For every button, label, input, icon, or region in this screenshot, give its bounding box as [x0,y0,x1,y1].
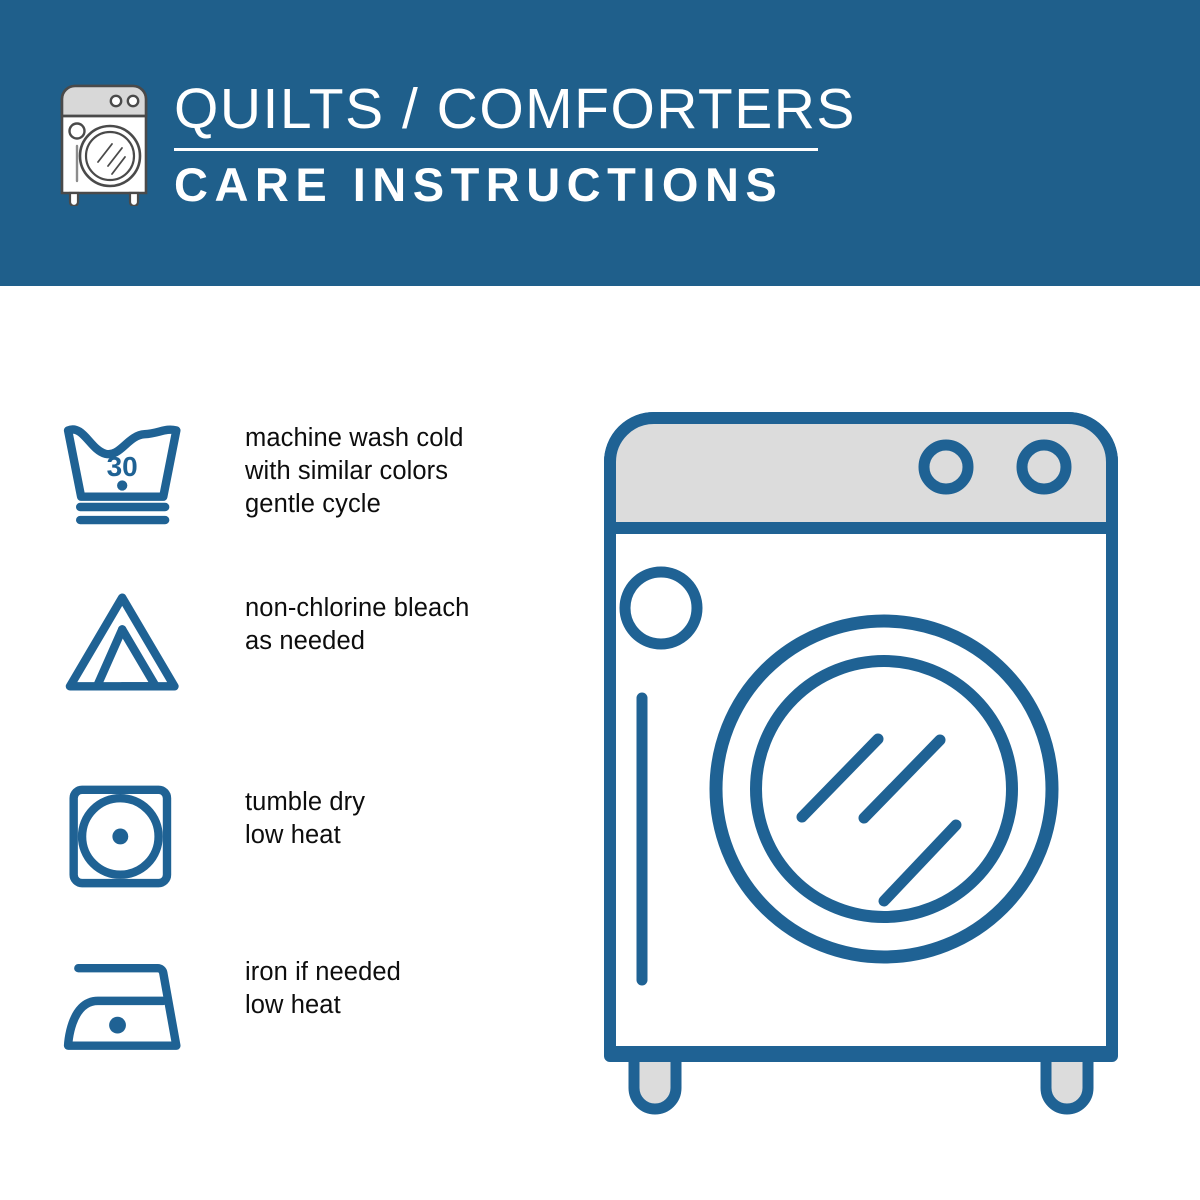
care-item-iron: iron if needed low heat [0,952,560,1060]
care-item-machine-wash: 30 machine wash cold with similar colors… [0,418,560,526]
page-subtitle: CARE INSTRUCTIONS [174,160,856,209]
care-item-bleach-label: non-chlorine bleach as needed [245,588,560,658]
page-title: QUILTS / COMFORTERS [174,80,856,140]
knob-right [1022,445,1066,489]
header-band: QUILTS / COMFORTERS CARE INSTRUCTIONS [0,0,1200,286]
iron-heat-dot-icon [109,1017,126,1034]
iron-low-heat-icon [55,952,205,1060]
care-item-machine-wash-label: machine wash cold with similar colors ge… [245,418,560,521]
front-load-washing-machine-illustration [596,404,1156,1124]
header-titles: QUILTS / COMFORTERS CARE INSTRUCTIONS [174,76,856,209]
care-item-iron-label: iron if needed low heat [245,952,560,1022]
non-chlorine-bleach-triangle-icon [55,588,205,696]
tumble-dry-low-heat-icon [55,782,205,890]
care-item-bleach: non-chlorine bleach as needed [0,588,560,696]
detergent-indicator [625,572,697,644]
wash-temperature-label: 30 [107,451,138,482]
door-inner-ring [756,661,1012,917]
knob-left [924,445,968,489]
header-content: QUILTS / COMFORTERS CARE INSTRUCTIONS [52,76,856,209]
machine-wash-30-gentle-icon: 30 [55,418,205,526]
dry-heat-dot-icon [112,829,128,845]
title-divider [174,148,818,151]
wash-dot-icon [117,480,127,490]
washing-machine-icon [52,76,156,206]
care-item-tumble-dry: tumble dry low heat [0,782,560,890]
care-item-tumble-dry-label: tumble dry low heat [245,782,560,852]
care-instructions-page: QUILTS / COMFORTERS CARE INSTRUCTIONS 30 [0,0,1200,1200]
